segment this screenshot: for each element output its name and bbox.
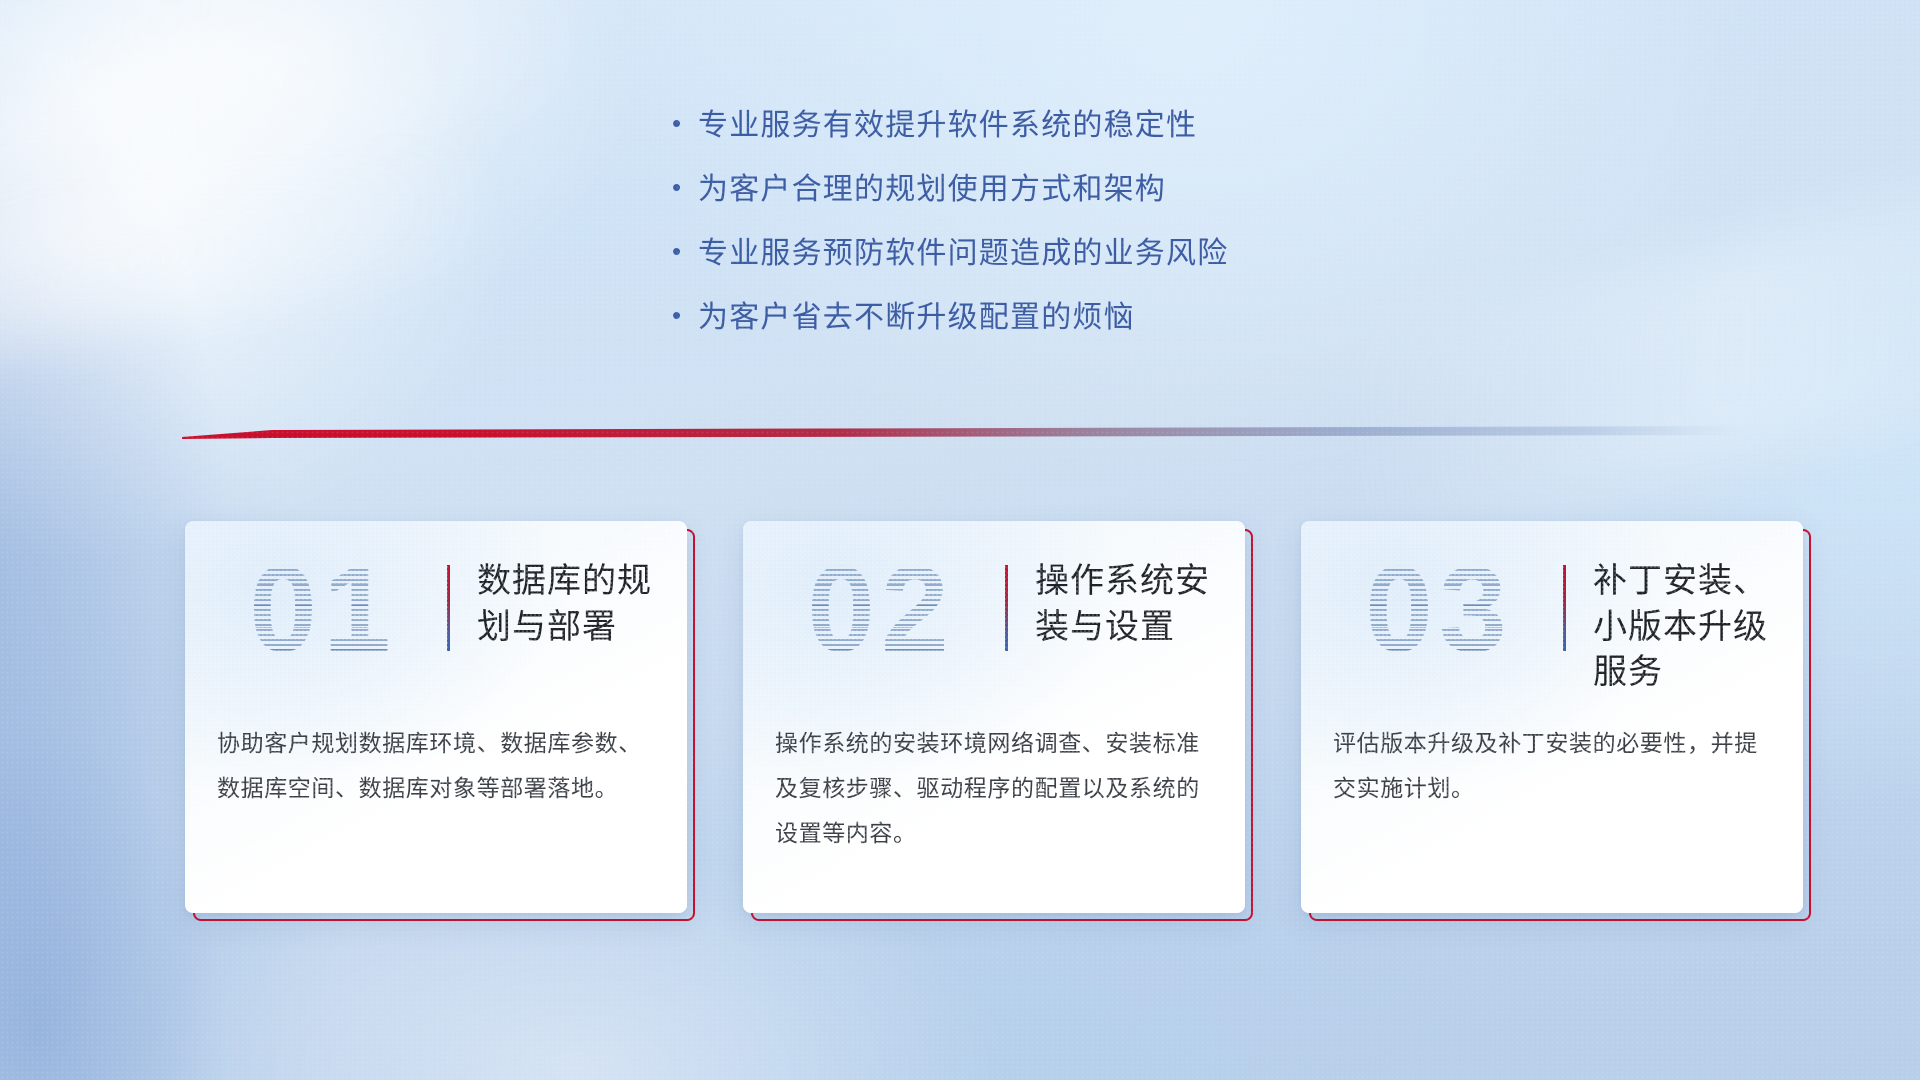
card-panel: 03 03 补丁安装、小版本升级服务 评估版本升级及补丁安装的必要性，并提交实施… bbox=[1301, 521, 1803, 913]
card-panel: 01 01 数据库的规划与部署 协助客户规划数据库环境、数据库参数、数据库空间、… bbox=[185, 521, 687, 913]
light-streak-decoration bbox=[0, 138, 484, 391]
card-title-divider-icon bbox=[1005, 565, 1008, 651]
list-item: • 专业服务有效提升软件系统的稳定性 bbox=[672, 108, 1572, 172]
card-body-text: 评估版本升级及补丁安装的必要性，并提交实施计划。 bbox=[1333, 721, 1775, 811]
light-streak-decoration bbox=[0, 0, 586, 314]
list-item: • 为客户合理的规划使用方式和架构 bbox=[672, 172, 1572, 236]
card-number-watermark: 02 bbox=[761, 539, 1001, 679]
bullet-text: 专业服务有效提升软件系统的稳定性 bbox=[698, 108, 1197, 144]
card-title-divider-icon bbox=[447, 565, 450, 651]
bullet-dot-icon: • bbox=[672, 110, 698, 136]
bullet-text: 为客户省去不断升级配置的烦恼 bbox=[698, 300, 1135, 336]
service-card[interactable]: 01 01 数据库的规划与部署 协助客户规划数据库环境、数据库参数、数据库空间、… bbox=[185, 521, 687, 913]
list-item: • 为客户省去不断升级配置的烦恼 bbox=[672, 300, 1572, 364]
bullet-text: 专业服务预防软件问题造成的业务风险 bbox=[698, 236, 1228, 272]
card-title-divider-icon bbox=[1563, 565, 1566, 651]
bullet-dot-icon: • bbox=[672, 174, 698, 200]
light-streak-decoration bbox=[0, 0, 494, 208]
service-card-group: 01 01 数据库的规划与部署 协助客户规划数据库环境、数据库参数、数据库空间、… bbox=[185, 521, 1805, 921]
card-panel: 02 02 操作系统安装与设置 操作系统的安装环境网络调查、安装标准及复核步骤、… bbox=[743, 521, 1245, 913]
section-divider bbox=[182, 424, 1742, 446]
slide-root: • 专业服务有效提升软件系统的稳定性 • 为客户合理的规划使用方式和架构 • 专… bbox=[0, 0, 1920, 1080]
service-card[interactable]: 02 02 操作系统安装与设置 操作系统的安装环境网络调查、安装标准及复核步骤、… bbox=[743, 521, 1245, 913]
card-number-watermark: 01 bbox=[203, 539, 443, 679]
bullet-dot-icon: • bbox=[672, 302, 698, 328]
card-number-watermark: 03 bbox=[1319, 539, 1559, 679]
card-body-text: 操作系统的安装环境网络调查、安装标准及复核步骤、驱动程序的配置以及系统的设置等内… bbox=[775, 721, 1217, 856]
card-title: 数据库的规划与部署 bbox=[477, 559, 673, 650]
card-title: 操作系统安装与设置 bbox=[1035, 559, 1231, 650]
bullet-text: 为客户合理的规划使用方式和架构 bbox=[698, 172, 1166, 208]
card-title: 补丁安装、小版本升级服务 bbox=[1593, 559, 1789, 696]
benefits-bullet-list: • 专业服务有效提升软件系统的稳定性 • 为客户合理的规划使用方式和架构 • 专… bbox=[672, 108, 1572, 364]
list-item: • 专业服务预防软件问题造成的业务风险 bbox=[672, 236, 1572, 300]
card-body-text: 协助客户规划数据库环境、数据库参数、数据库空间、数据库对象等部署落地。 bbox=[217, 721, 659, 811]
service-card[interactable]: 03 03 补丁安装、小版本升级服务 评估版本升级及补丁安装的必要性，并提交实施… bbox=[1301, 521, 1803, 913]
divider-shape-icon bbox=[182, 424, 1742, 446]
bullet-dot-icon: • bbox=[672, 238, 698, 264]
